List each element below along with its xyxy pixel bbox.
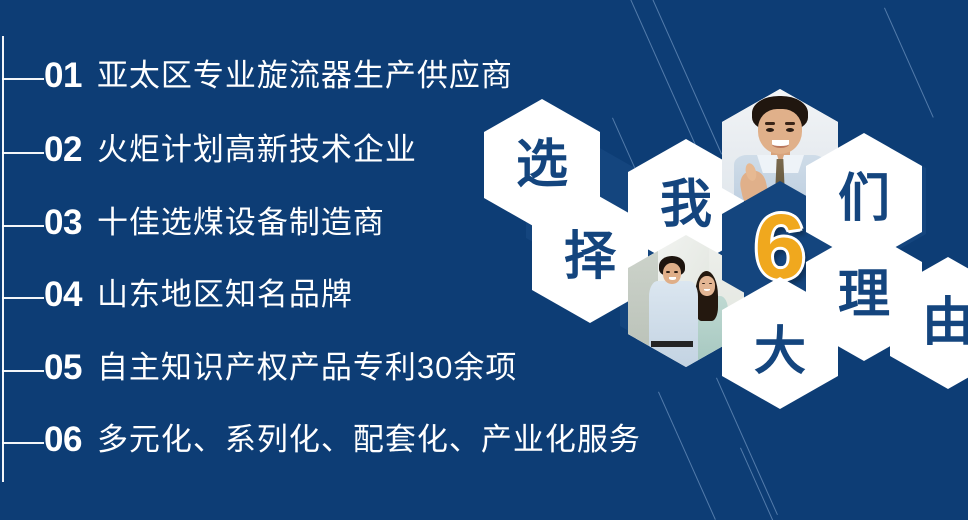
rail-tick-04 (2, 297, 44, 299)
hex-headline-cluster: 选 择 我 (470, 95, 968, 425)
list-item-label: 十佳选煤设备制造商 (97, 207, 385, 238)
list-item-label: 亚太区专业旋流器生产供应商 (97, 60, 513, 91)
list-item: 05 自主知识产权产品专利30余项 (44, 350, 517, 385)
list-item: 06 多元化、系列化、配套化、产业化服务 (44, 422, 641, 457)
hex-char-li: 理 (838, 269, 890, 321)
hex-char-you: 由 (922, 297, 968, 349)
list-item-number: 05 (44, 350, 82, 385)
rail-tick-05 (2, 370, 44, 372)
banner-canvas: 01 亚太区专业旋流器生产供应商 02 火炬计划高新技术企业 03 十佳选煤设备… (0, 0, 968, 520)
rail-tick-02 (2, 152, 44, 154)
rail-tick-03 (2, 225, 44, 227)
hex-char-xuan: 选 (516, 139, 568, 191)
list-item: 03 十佳选煤设备制造商 (44, 205, 385, 240)
list-item: 02 火炬计划高新技术企业 (44, 132, 417, 167)
hex-char-wo: 我 (660, 179, 712, 231)
list-item-label: 自主知识产权产品专利30余项 (97, 352, 517, 383)
hex-char-da: 大 (754, 308, 806, 378)
list-item-number: 01 (44, 58, 82, 93)
hex-char-ze: 择 (564, 231, 616, 283)
timeline-rail (2, 36, 4, 482)
rail-tick-06 (2, 442, 44, 444)
list-item-number: 02 (44, 132, 82, 167)
list-item-label: 火炬计划高新技术企业 (97, 134, 417, 165)
decorative-diagonal-line-7 (740, 448, 778, 520)
list-item: 04 山东地区知名品牌 (44, 277, 353, 312)
list-item: 01 亚太区专业旋流器生产供应商 (44, 58, 513, 93)
list-item-number: 03 (44, 205, 82, 240)
list-item-label: 山东地区知名品牌 (97, 279, 353, 310)
list-item-number: 04 (44, 277, 82, 312)
rail-tick-01 (2, 78, 44, 80)
hex-char-men: 们 (838, 173, 890, 225)
list-item-label: 多元化、系列化、配套化、产业化服务 (97, 424, 641, 455)
list-item-number: 06 (44, 422, 82, 457)
